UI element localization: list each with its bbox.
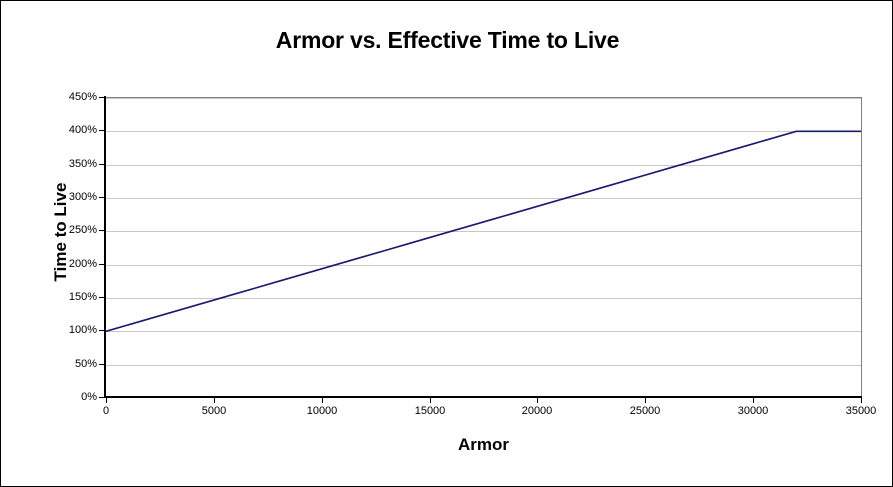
x-tick-mark (537, 398, 538, 403)
x-tick-label: 15000 (390, 405, 470, 417)
x-axis-line (105, 396, 862, 398)
y-tick-mark (99, 264, 105, 265)
y-tick-mark (99, 97, 105, 98)
x-tick-label: 10000 (282, 405, 362, 417)
y-tick-mark (99, 397, 105, 398)
plot-area (106, 97, 862, 398)
x-tick-mark (430, 398, 431, 403)
x-tick-label: 30000 (713, 405, 793, 417)
chart-container: Armor vs. Effective Time to Live 0%50%10… (0, 0, 893, 487)
y-tick-mark (99, 364, 105, 365)
y-tick-mark (99, 130, 105, 131)
x-tick-mark (645, 398, 646, 403)
y-axis-line (104, 96, 106, 398)
y-axis-title: Time to Live (51, 82, 71, 382)
series-line-chart (106, 98, 861, 398)
y-tick-mark (99, 297, 105, 298)
chart-title: Armor vs. Effective Time to Live (1, 27, 893, 54)
x-tick-label: 35000 (821, 405, 893, 417)
x-tick-label: 5000 (174, 405, 254, 417)
x-tick-mark (753, 398, 754, 403)
x-tick-mark (861, 398, 862, 403)
x-axis-title: Armor (106, 435, 861, 455)
x-tick-mark (214, 398, 215, 403)
y-tick-mark (99, 230, 105, 231)
x-tick-label: 0 (66, 405, 146, 417)
series-line-effective-time-to-live (106, 131, 861, 331)
y-tick-mark (99, 197, 105, 198)
y-tick-mark (99, 330, 105, 331)
x-tick-label: 20000 (497, 405, 577, 417)
x-tick-mark (322, 398, 323, 403)
y-tick-mark (99, 164, 105, 165)
x-tick-label: 25000 (605, 405, 685, 417)
x-tick-mark (106, 398, 107, 403)
y-tick-label: 0% (53, 392, 97, 403)
